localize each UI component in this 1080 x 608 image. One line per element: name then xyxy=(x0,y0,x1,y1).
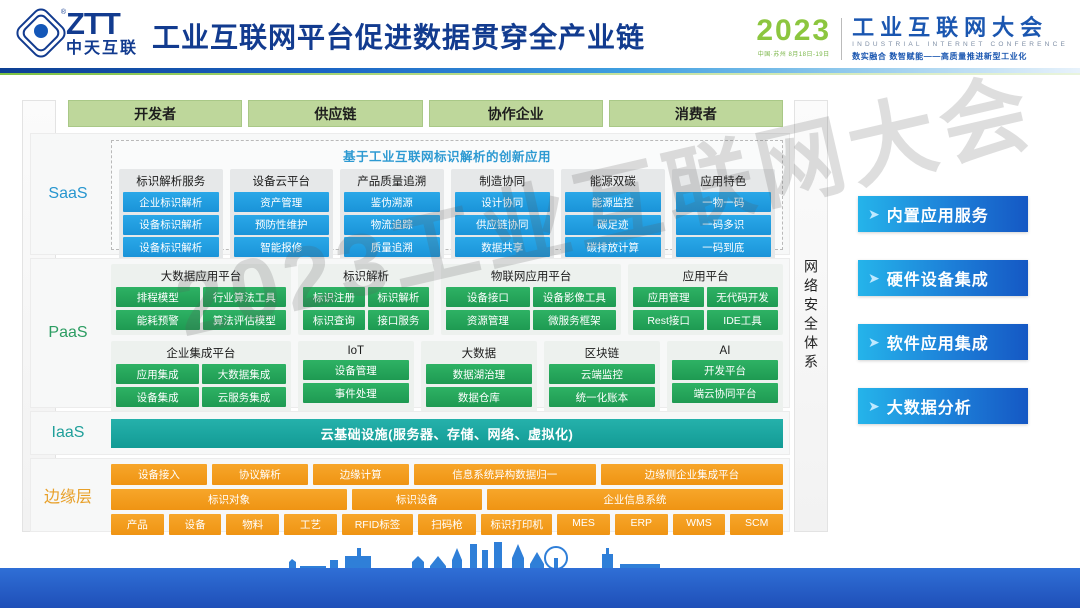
saas-column-header: 标识解析服务 xyxy=(123,172,219,192)
edge-item-标识设备[interactable]: 标识设备 xyxy=(352,489,482,510)
paas-item-1-0[interactable]: 标识注册 xyxy=(303,287,365,307)
paas-panel: 大数据应用平台排程模型行业算法工具能耗预警算法评估模型标识解析标识注册标识解析标… xyxy=(111,264,783,404)
paas-item-1-0[interactable]: 设备管理 xyxy=(303,360,409,380)
edge-item-SCM[interactable]: SCM xyxy=(730,514,783,535)
edge-item-标识对象[interactable]: 标识对象 xyxy=(111,489,347,510)
paas-group-header: 应用平台 xyxy=(633,267,778,287)
layer-paas: PaaS 大数据应用平台排程模型行业算法工具能耗预警算法评估模型标识解析标识注册… xyxy=(30,258,790,408)
page-title: 工业互联网平台促进数据贯穿全产业链 xyxy=(152,16,645,56)
saas-item-3-0[interactable]: 设计协同 xyxy=(455,192,551,212)
paas-item-3-0[interactable]: 应用管理 xyxy=(633,287,704,307)
paas-group-区块链: 区块链云端监控统一化账本 xyxy=(544,341,660,412)
conference-name-en: INDUSTRIAL INTERNET CONFERENCE xyxy=(852,41,1068,48)
edge-item-工艺[interactable]: 工艺 xyxy=(284,514,337,535)
edge-item-企业信息系统[interactable]: 企业信息系统 xyxy=(487,489,783,510)
paas-item-0-0[interactable]: 排程模型 xyxy=(116,287,200,307)
edge-item-标识打印机[interactable]: 标识打印机 xyxy=(481,514,552,535)
saas-column-header: 产品质量追溯 xyxy=(344,172,440,192)
edge-item-产品[interactable]: 产品 xyxy=(111,514,164,535)
paas-item-2-3[interactable]: 微服务框架 xyxy=(533,310,617,330)
saas-item-3-1[interactable]: 供应链协同 xyxy=(455,215,551,235)
saas-column-header: 应用特色 xyxy=(676,172,772,192)
saas-inner-title: 基于工业互联网标识解析的创新应用 xyxy=(112,141,782,165)
layer-iaas-label: IaaS xyxy=(31,412,105,454)
paas-item-3-0[interactable]: 云端监控 xyxy=(549,364,655,384)
saas-item-4-0[interactable]: 能源监控 xyxy=(565,192,661,212)
saas-column-1: 设备云平台资产管理预防性维护智能报修 xyxy=(230,169,334,261)
paas-row-1: 大数据应用平台排程模型行业算法工具能耗预警算法评估模型标识解析标识注册标识解析标… xyxy=(111,264,783,335)
feature-button-0[interactable]: ➤内置应用服务 xyxy=(858,196,1028,232)
role-tab-0[interactable]: 开发者 xyxy=(68,100,242,127)
saas-item-3-2[interactable]: 数据共享 xyxy=(455,237,551,257)
footer-ground xyxy=(0,568,1080,608)
paas-item-0-3[interactable]: 云服务集成 xyxy=(202,387,285,407)
layer-paas-label: PaaS xyxy=(31,259,105,407)
paas-group-items: 应用集成大数据集成设备集成云服务集成 xyxy=(116,364,286,407)
saas-column-5: 应用特色一物一码一码多识一码到底 xyxy=(672,169,776,261)
edge-item-设备接入[interactable]: 设备接入 xyxy=(111,464,207,485)
saas-item-2-1[interactable]: 物流追踪 xyxy=(344,215,440,235)
saas-item-5-2[interactable]: 一码到底 xyxy=(676,237,772,257)
layer-edge: 边缘层 设备接入协议解析边缘计算信息系统异构数据归一边缘侧企业集成平台 标识对象… xyxy=(30,458,790,532)
edge-item-边缘计算[interactable]: 边缘计算 xyxy=(313,464,409,485)
paas-item-0-1[interactable]: 行业算法工具 xyxy=(203,287,287,307)
edge-item-WMS[interactable]: WMS xyxy=(673,514,726,535)
saas-item-2-2[interactable]: 质量追溯 xyxy=(344,237,440,257)
arrow-right-icon: ➤ xyxy=(868,398,880,415)
brand-name-cn: 中天互联 xyxy=(66,41,138,57)
edge-panel: 设备接入协议解析边缘计算信息系统异构数据归一边缘侧企业集成平台 标识对象标识设备… xyxy=(111,464,783,539)
paas-group-items: 设备管理事件处理 xyxy=(303,360,409,403)
paas-item-2-2[interactable]: 资源管理 xyxy=(446,310,530,330)
paas-group-items: 云端监控统一化账本 xyxy=(549,364,655,407)
paas-group-header: 物联网应用平台 xyxy=(446,267,616,287)
paas-item-3-3[interactable]: IDE工具 xyxy=(707,310,778,330)
edge-row-1: 设备接入协议解析边缘计算信息系统异构数据归一边缘侧企业集成平台 xyxy=(111,464,783,485)
paas-item-0-2[interactable]: 设备集成 xyxy=(116,387,199,407)
layer-edge-label: 边缘层 xyxy=(31,459,105,531)
saas-column-4: 能源双碳能源监控碳足迹碳排放计算 xyxy=(561,169,665,261)
saas-item-0-2[interactable]: 设备标识解析 xyxy=(123,237,219,257)
layer-iaas: IaaS 云基础设施(服务器、存储、网络、虚拟化) xyxy=(30,411,790,455)
conference-year: 2023 xyxy=(756,16,831,46)
edge-item-边缘侧企业集成平台[interactable]: 边缘侧企业集成平台 xyxy=(601,464,783,485)
saas-item-1-2[interactable]: 智能报修 xyxy=(234,237,330,257)
paas-item-1-2[interactable]: 标识查询 xyxy=(303,310,365,330)
page-header: ® ZTT 中天互联 工业互联网平台促进数据贯穿全产业链 2023 中国·苏州 … xyxy=(0,0,1080,68)
brand-name-en: ZTT xyxy=(66,8,138,39)
paas-group-大数据应用平台: 大数据应用平台排程模型行业算法工具能耗预警算法评估模型 xyxy=(111,264,291,335)
architecture-diagram: 开发者供应链协作企业消费者 SaaS 基于工业互联网标识解析的创新应用 标识解析… xyxy=(30,100,790,532)
layer-saas-label: SaaS xyxy=(31,134,105,254)
feature-button-3[interactable]: ➤大数据分析 xyxy=(858,388,1028,424)
edge-item-协议解析[interactable]: 协议解析 xyxy=(212,464,308,485)
feature-button-list: ➤内置应用服务➤硬件设备集成➤软件应用集成➤大数据分析 xyxy=(858,196,1028,452)
feature-button-label: 内置应用服务 xyxy=(887,202,989,226)
edge-row-2: 标识对象标识设备企业信息系统 xyxy=(111,489,783,510)
paas-group-header: 标识解析 xyxy=(303,267,429,287)
paas-item-3-1[interactable]: 统一化账本 xyxy=(549,387,655,407)
arrow-right-icon: ➤ xyxy=(868,334,880,351)
role-tab-2[interactable]: 协作企业 xyxy=(429,100,603,127)
header-rule-green xyxy=(0,73,1080,75)
paas-group-IoT: IoT设备管理事件处理 xyxy=(298,341,414,412)
saas-item-1-1[interactable]: 预防性维护 xyxy=(234,215,330,235)
feature-button-label: 软件应用集成 xyxy=(887,330,989,354)
paas-item-0-1[interactable]: 大数据集成 xyxy=(202,364,285,384)
paas-item-2-1[interactable]: 数据仓库 xyxy=(426,387,532,407)
edge-item-MES[interactable]: MES xyxy=(557,514,610,535)
paas-group-企业集成平台: 企业集成平台应用集成大数据集成设备集成云服务集成 xyxy=(111,341,291,412)
saas-column-2: 产品质量追溯鉴伪溯源物流追踪质量追溯 xyxy=(340,169,444,261)
paas-row-2: 企业集成平台应用集成大数据集成设备集成云服务集成IoT设备管理事件处理大数据数据… xyxy=(111,341,783,412)
paas-item-2-1[interactable]: 设备影像工具 xyxy=(533,287,617,307)
paas-group-header: 大数据 xyxy=(426,344,532,364)
paas-item-2-0[interactable]: 设备接口 xyxy=(446,287,530,307)
saas-item-4-1[interactable]: 碳足迹 xyxy=(565,215,661,235)
paas-item-2-0[interactable]: 数据湖治理 xyxy=(426,364,532,384)
saas-columns: 标识解析服务企业标识解析设备标识解析设备标识解析设备云平台资产管理预防性维护智能… xyxy=(112,165,782,261)
saas-item-0-0[interactable]: 企业标识解析 xyxy=(123,192,219,212)
edge-item-扫码枪[interactable]: 扫码枪 xyxy=(418,514,476,535)
paas-group-header: 区块链 xyxy=(549,344,655,364)
saas-item-0-1[interactable]: 设备标识解析 xyxy=(123,215,219,235)
paas-group-物联网应用平台: 物联网应用平台设备接口设备影像工具资源管理微服务框架 xyxy=(441,264,621,335)
paas-group-items: 数据湖治理数据仓库 xyxy=(426,364,532,407)
arrow-right-icon: ➤ xyxy=(868,270,880,287)
edge-item-物料[interactable]: 物料 xyxy=(226,514,279,535)
feature-button-1[interactable]: ➤硬件设备集成 xyxy=(858,260,1028,296)
conference-date: 中国·苏州 8月18日-19日 xyxy=(756,49,831,58)
arrow-right-icon: ➤ xyxy=(868,206,880,223)
saas-column-0: 标识解析服务企业标识解析设备标识解析设备标识解析 xyxy=(119,169,223,261)
role-tabs: 开发者供应链协作企业消费者 xyxy=(68,100,783,127)
paas-item-4-0[interactable]: 开发平台 xyxy=(672,360,778,380)
paas-group-items: 开发平台端云协同平台 xyxy=(672,360,778,403)
edge-item-RFID标签[interactable]: RFID标签 xyxy=(342,514,413,535)
paas-item-4-1[interactable]: 端云协同平台 xyxy=(672,383,778,403)
paas-item-0-0[interactable]: 应用集成 xyxy=(116,364,199,384)
layer-saas: SaaS 基于工业互联网标识解析的创新应用 标识解析服务企业标识解析设备标识解析… xyxy=(30,133,790,255)
paas-group-应用平台: 应用平台应用管理无代码开发Rest接口IDE工具 xyxy=(628,264,783,335)
divider xyxy=(841,18,842,60)
ztt-diamond-icon: ® xyxy=(18,10,64,56)
page-footer xyxy=(0,540,1080,608)
feature-button-label: 大数据分析 xyxy=(887,394,972,418)
paas-item-1-1[interactable]: 事件处理 xyxy=(303,383,409,403)
paas-group-items: 排程模型行业算法工具能耗预警算法评估模型 xyxy=(116,287,286,330)
paas-group-标识解析: 标识解析标识注册标识解析标识查询接口服务 xyxy=(298,264,434,335)
conference-logo: 2023 中国·苏州 8月18日-19日 工业互联网大会 INDUSTRIAL … xyxy=(756,16,1068,62)
paas-item-1-1[interactable]: 标识解析 xyxy=(368,287,430,307)
paas-group-AI: AI开发平台端云协同平台 xyxy=(667,341,783,412)
edge-item-ERP[interactable]: ERP xyxy=(615,514,668,535)
saas-column-header: 设备云平台 xyxy=(234,172,330,192)
side-label-right-text: 网络安全体系 xyxy=(801,259,821,373)
saas-inner-panel: 基于工业互联网标识解析的创新应用 标识解析服务企业标识解析设备标识解析设备标识解… xyxy=(111,140,783,250)
edge-item-设备[interactable]: 设备 xyxy=(169,514,222,535)
feature-button-2[interactable]: ➤软件应用集成 xyxy=(858,324,1028,360)
paas-group-items: 设备接口设备影像工具资源管理微服务框架 xyxy=(446,287,616,330)
paas-group-header: 企业集成平台 xyxy=(116,344,286,364)
paas-item-0-3[interactable]: 算法评估模型 xyxy=(203,310,287,330)
paas-item-3-2[interactable]: Rest接口 xyxy=(633,310,704,330)
paas-item-3-1[interactable]: 无代码开发 xyxy=(707,287,778,307)
conference-slogan: 数实融合 数智赋能——高质量推进新型工业化 xyxy=(852,51,1068,62)
paas-group-大数据: 大数据数据湖治理数据仓库 xyxy=(421,341,537,412)
saas-column-3: 制造协同设计协同供应链协同数据共享 xyxy=(451,169,555,261)
paas-group-header: AI xyxy=(672,344,778,360)
conference-name-cn: 工业互联网大会 xyxy=(852,16,1068,39)
saas-column-header: 能源双碳 xyxy=(565,172,661,192)
saas-column-header: 制造协同 xyxy=(455,172,551,192)
paas-item-0-2[interactable]: 能耗预警 xyxy=(116,310,200,330)
saas-item-5-1[interactable]: 一码多识 xyxy=(676,215,772,235)
feature-button-label: 硬件设备集成 xyxy=(887,266,989,290)
paas-group-header: IoT xyxy=(303,344,409,360)
saas-item-4-2[interactable]: 碳排放计算 xyxy=(565,237,661,257)
side-label-security: 网络安全体系 xyxy=(794,100,828,532)
saas-item-5-0[interactable]: 一物一码 xyxy=(676,192,772,212)
paas-group-header: 大数据应用平台 xyxy=(116,267,286,287)
paas-item-1-3[interactable]: 接口服务 xyxy=(368,310,430,330)
saas-item-1-0[interactable]: 资产管理 xyxy=(234,192,330,212)
iaas-infrastructure-bar: 云基础设施(服务器、存储、网络、虚拟化) xyxy=(111,419,783,448)
role-tab-3[interactable]: 消费者 xyxy=(609,100,783,127)
brand-logo: ® ZTT 中天互联 xyxy=(18,8,138,57)
edge-row-3: 产品设备物料工艺RFID标签扫码枪标识打印机MESERPWMSSCM xyxy=(111,514,783,535)
registered-mark: ® xyxy=(61,9,66,16)
paas-group-items: 应用管理无代码开发Rest接口IDE工具 xyxy=(633,287,778,330)
saas-item-2-0[interactable]: 鉴伪溯源 xyxy=(344,192,440,212)
edge-item-信息系统异构数据归一[interactable]: 信息系统异构数据归一 xyxy=(414,464,596,485)
paas-group-items: 标识注册标识解析标识查询接口服务 xyxy=(303,287,429,330)
role-tab-1[interactable]: 供应链 xyxy=(248,100,422,127)
